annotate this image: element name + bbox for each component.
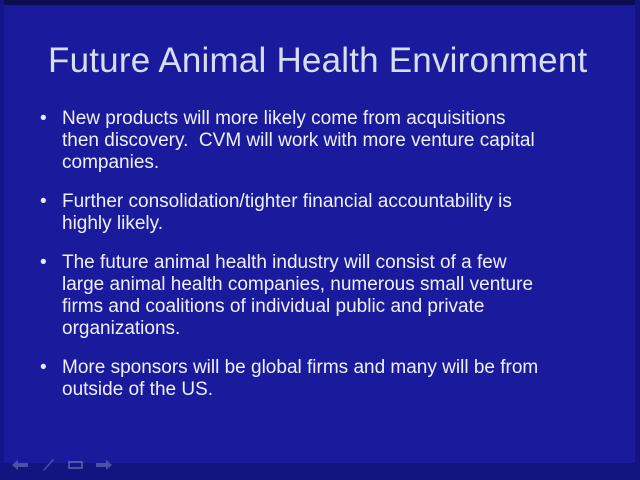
slideshow-toolbar[interactable]	[10, 458, 113, 472]
bullet-line: firms and coalitions of individual publi…	[62, 296, 616, 318]
slide-right-edge	[635, 0, 640, 480]
slide-title: Future Animal Health Environment	[48, 40, 587, 82]
bullet-item: • New products will more likely come fro…	[36, 108, 616, 174]
bullet-line: highly likely.	[62, 213, 616, 235]
next-arrow-icon[interactable]	[94, 458, 113, 472]
pen-icon[interactable]	[38, 458, 57, 472]
previous-arrow-icon[interactable]	[10, 458, 29, 472]
slide-top-edge	[0, 0, 640, 5]
slide-left-edge	[0, 0, 4, 480]
bullet-line: Further consolidation/tighter financial …	[62, 191, 616, 213]
bullet-line: New products will more likely come from …	[62, 108, 616, 130]
bullet-item: • The future animal health industry will…	[36, 252, 616, 340]
bullet-marker-icon: •	[36, 252, 62, 274]
bullet-item: • More sponsors will be global firms and…	[36, 357, 616, 401]
slide-menu-icon[interactable]	[66, 458, 85, 472]
bullet-marker-icon: •	[36, 191, 62, 213]
bullet-item: • Further consolidation/tighter financia…	[36, 191, 616, 235]
bullet-marker-icon: •	[36, 357, 62, 379]
bullet-line: The future animal health industry will c…	[62, 252, 616, 274]
bullet-line: large animal health companies, numerous …	[62, 274, 616, 296]
bullet-text: More sponsors will be global firms and m…	[62, 357, 616, 401]
bullet-text: Further consolidation/tighter financial …	[62, 191, 616, 235]
bullet-list: • New products will more likely come fro…	[36, 108, 616, 418]
bullet-line: outside of the US.	[62, 379, 616, 401]
bullet-line: organizations.	[62, 318, 616, 340]
bullet-line: More sponsors will be global firms and m…	[62, 357, 616, 379]
bullet-marker-icon: •	[36, 108, 62, 130]
bullet-line: companies.	[62, 152, 616, 174]
bullet-text: The future animal health industry will c…	[62, 252, 616, 340]
bullet-text: New products will more likely come from …	[62, 108, 616, 174]
presentation-slide: Future Animal Health Environment • New p…	[0, 0, 640, 480]
bullet-line: then discovery. CVM will work with more …	[62, 130, 616, 152]
